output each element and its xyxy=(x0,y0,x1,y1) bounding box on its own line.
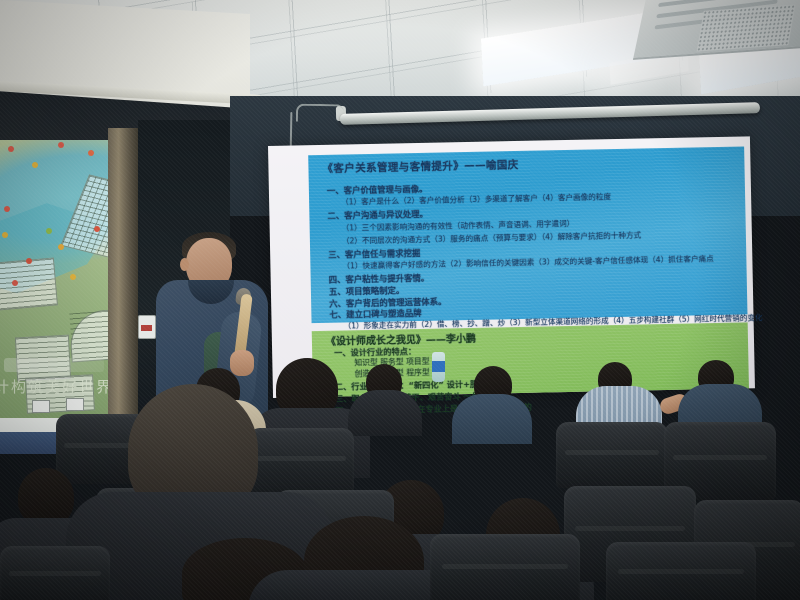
slide-blue-title: 《客户关系管理与客情提升》——喻国庆 xyxy=(322,157,518,176)
mural-dot xyxy=(12,280,18,286)
mural-dot xyxy=(4,206,10,212)
audience-chair xyxy=(430,534,580,600)
audience-shoulders xyxy=(452,394,532,444)
mural-dot xyxy=(2,232,8,238)
slide-blue-line-4: （1）三个因素影响沟通的有效性（动作表情、声音语调、用字遣词） xyxy=(342,218,575,234)
mural-dot xyxy=(32,162,38,168)
audience-chair xyxy=(0,546,110,600)
mural-dot xyxy=(70,274,76,280)
slide-blue-line-8: 四、客户粘性与提升客情。 xyxy=(329,272,430,286)
mural-dot xyxy=(88,150,94,156)
audience-chair xyxy=(556,422,668,488)
switch-indicator xyxy=(141,325,152,331)
slide-green-line-1: 一、设计行业的特点： xyxy=(334,345,416,359)
mural-dot xyxy=(58,142,64,148)
audience-chair xyxy=(248,428,354,494)
presenter-ear xyxy=(180,258,189,271)
slide-blue-line-6: 三、客户信任与需求挖掘 xyxy=(328,247,420,261)
audience-shoulders xyxy=(348,390,422,436)
mural-dot xyxy=(46,228,52,234)
mural-hatch-horizontal xyxy=(0,259,57,310)
mural-building-left xyxy=(0,257,58,310)
slide-blue-line-10: 六、客户背后的管理运营体系。 xyxy=(329,295,446,309)
projection-screen: 《客户关系管理与客情提升》——喻国庆 一、客户价值管理与画像。 （1）客户是什么… xyxy=(268,136,755,398)
mural-dot xyxy=(94,226,100,232)
mural-dot xyxy=(58,244,64,250)
audience-chair xyxy=(606,542,756,600)
wall-conduit-bend xyxy=(296,104,344,123)
slide-blue-line-11: 七、建立口碑与塑造品牌 xyxy=(329,307,421,321)
slide-blue-line-1: 一、客户价值管理与画像。 xyxy=(327,183,428,197)
slide-blue-line-5: （2）不同层次的沟通方式（3）服务的痛点（预算与要求）（4）解除客户抗拒的十种方… xyxy=(342,230,641,247)
mural-dot xyxy=(26,258,32,264)
slide-blue-line-2: （1）客户是什么（2）客户价值分析（3）多渠道了解客户（4）客户画像的粒度 xyxy=(341,191,611,207)
slide-section-blue: 《客户关系管理与客情提升》——喻国庆 一、客户价值管理与画像。 （1）客户是什么… xyxy=(308,146,747,323)
slide-blue-line-3: 二、客户沟通与异议处理。 xyxy=(327,208,428,222)
slide-green-title: 《设计师成长之我见》——李小鹏 xyxy=(326,330,476,348)
slide-blue-line-9: 五、项目策略制定。 xyxy=(329,284,405,298)
audience-area xyxy=(0,360,800,600)
air-vent-grill xyxy=(697,4,796,51)
mural-dot xyxy=(8,146,14,152)
slide-blue-line-7: （1）快速赢得客户好感的方法（2）影响信任的关键因素（3）成交的关键-客户信任感… xyxy=(342,253,714,271)
presentation-room-photo: 计构筑美好世界 《客户关系管理与客情提升》——喻国庆 一、客户价值管理与画像。 … xyxy=(0,0,800,600)
